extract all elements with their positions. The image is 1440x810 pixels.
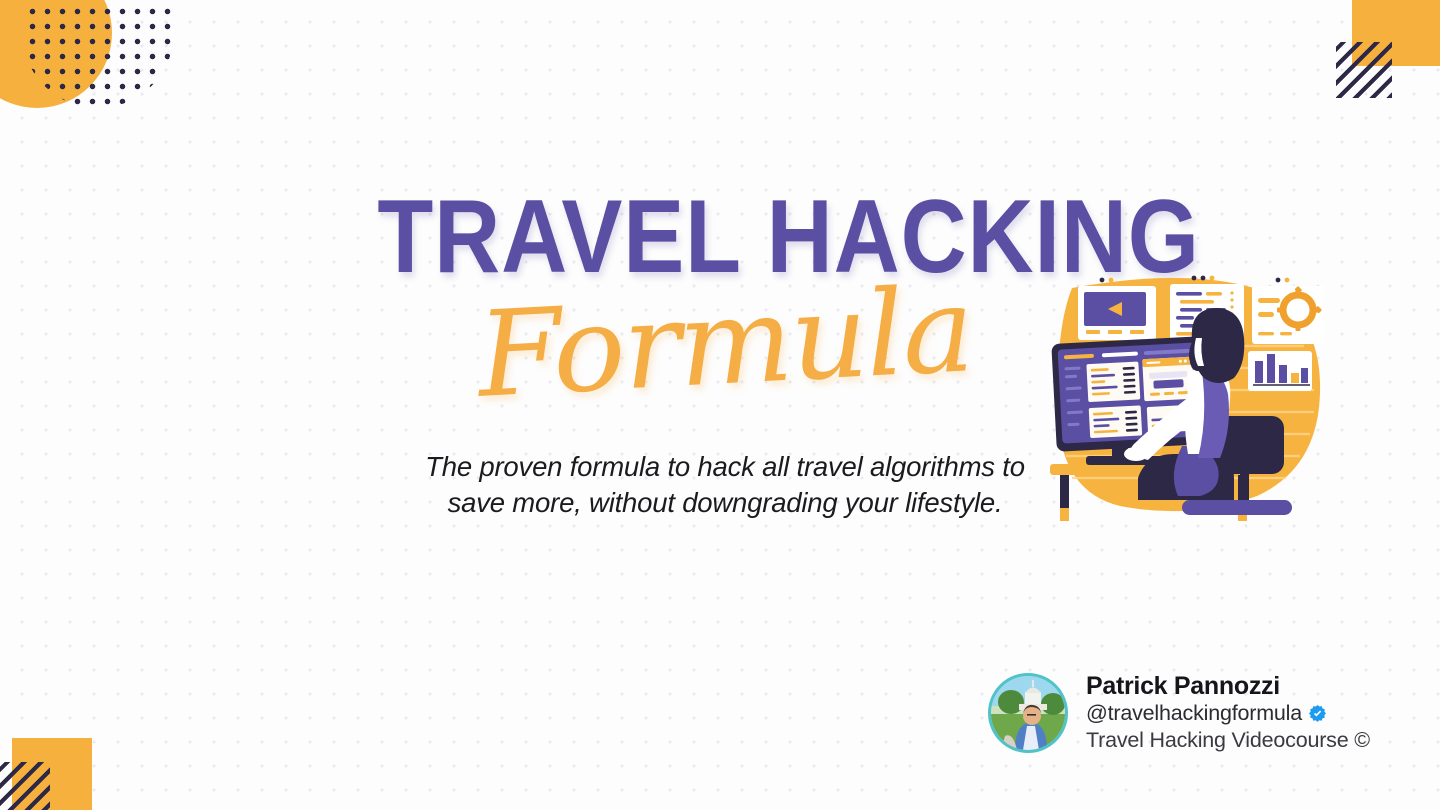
profile-name: Patrick Pannozzi bbox=[1086, 672, 1370, 701]
profile-handle[interactable]: @travelhackingformula bbox=[1086, 701, 1302, 727]
verified-badge-icon bbox=[1308, 704, 1327, 723]
avatar bbox=[988, 673, 1068, 753]
headline-block: TRAVEL HACKING Formula The proven formul… bbox=[330, 188, 1120, 522]
tagline-line-1: The proven formula to hack all travel al… bbox=[425, 451, 1025, 482]
bottom-left-diagonal-stripes-decoration bbox=[0, 762, 50, 810]
profile-text: Patrick Pannozzi @travelhackingformula T… bbox=[1086, 672, 1370, 753]
profile-course: Travel Hacking Videocourse © bbox=[1086, 727, 1370, 754]
profile-handle-row: @travelhackingformula bbox=[1086, 701, 1370, 727]
tagline-line-2: save more, without downgrading your life… bbox=[448, 487, 1003, 518]
tagline: The proven formula to hack all travel al… bbox=[400, 449, 1050, 522]
profile-block: Patrick Pannozzi @travelhackingformula T… bbox=[988, 672, 1370, 753]
hero-illustration bbox=[1042, 268, 1332, 538]
top-right-diagonal-stripes-decoration bbox=[1336, 42, 1392, 98]
slide-canvas: TRAVEL HACKING Formula The proven formul… bbox=[0, 0, 1440, 810]
